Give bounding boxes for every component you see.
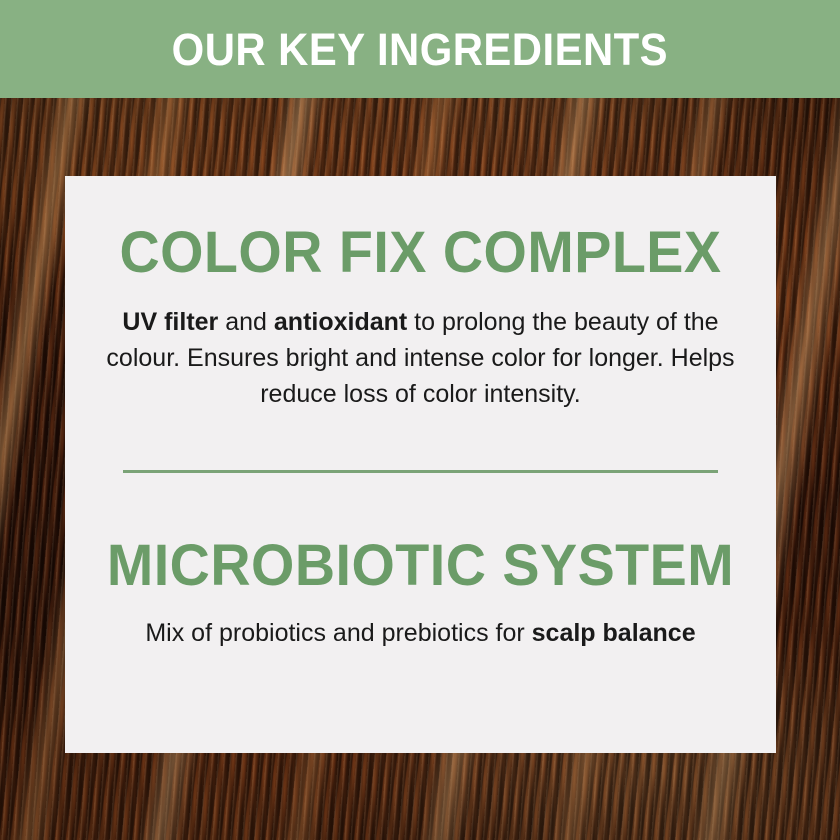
header-banner: OUR KEY INGREDIENTS bbox=[0, 0, 840, 98]
section-title-color-fix-complex: COLOR FIX COMPLEX bbox=[104, 224, 737, 282]
section-divider bbox=[123, 470, 718, 473]
section-body-microbiotic-system: Mix of probiotics and prebiotics for sca… bbox=[141, 615, 701, 651]
section-title-microbiotic-system: MICROBIOTIC SYSTEM bbox=[104, 537, 737, 595]
section-microbiotic-system: MICROBIOTIC SYSTEM Mix of probiotics and… bbox=[91, 537, 750, 651]
ingredients-card: COLOR FIX COMPLEX UV filter and antioxid… bbox=[65, 176, 776, 753]
section-color-fix-complex: COLOR FIX COMPLEX UV filter and antioxid… bbox=[91, 176, 750, 412]
ingredients-infographic: OUR KEY INGREDIENTS COLOR FIX COMPLEX UV… bbox=[0, 0, 840, 840]
page-title: OUR KEY INGREDIENTS bbox=[172, 27, 668, 72]
section-body-color-fix-complex: UV filter and antioxidant to prolong the… bbox=[97, 304, 745, 412]
section-divider-wrap bbox=[91, 470, 750, 473]
